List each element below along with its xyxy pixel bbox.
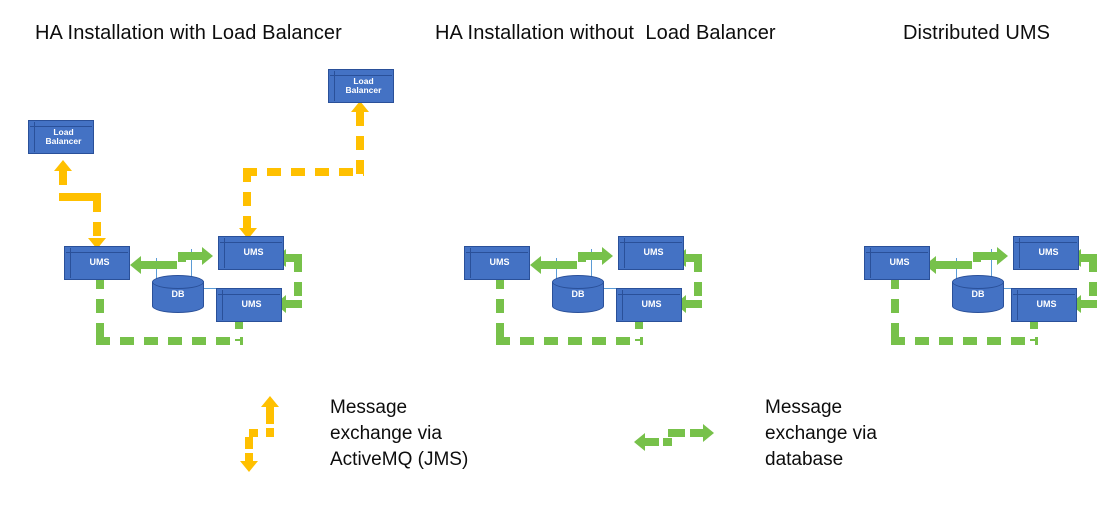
jms-segment-v2: [93, 198, 101, 240]
db-segment-v3: [294, 258, 302, 304]
db-segment-step: [578, 252, 586, 262]
db-segment-h5: [958, 261, 976, 269]
arrowhead-left-icon: [530, 256, 541, 274]
load-balancer-label: LoadBalancer: [35, 121, 92, 153]
ums-node-3-top-right[interactable]: UMS: [1013, 236, 1079, 270]
ums-node-3-bottom-right[interactable]: UMS: [1011, 288, 1077, 322]
db-segment-v1: [891, 275, 899, 337]
db-segment-step: [178, 252, 186, 262]
ums-label: UMS: [1020, 237, 1077, 269]
arrowhead-left-icon: [130, 256, 141, 274]
legend-jms-v3: [245, 437, 253, 449]
database-node-2[interactable]: DB: [552, 275, 604, 313]
load-balancer-label: LoadBalancer: [335, 70, 392, 102]
db-segment-v1: [496, 275, 504, 337]
legend-jms-v1: [266, 407, 274, 424]
db-segment-h5: [563, 261, 581, 269]
legend-db-h1: [645, 438, 659, 446]
arrowhead-right-icon: [602, 247, 613, 265]
db-segment-h3: [1081, 300, 1097, 308]
db-segment-h4: [541, 261, 563, 269]
database-label: DB: [152, 275, 204, 313]
ums-label: UMS: [1018, 289, 1075, 321]
db-segment-h1: [496, 337, 643, 345]
ums-label: UMS: [471, 247, 528, 279]
legend-db-h2: [663, 438, 672, 446]
ums-label: UMS: [71, 247, 128, 279]
ums-label: UMS: [225, 237, 282, 269]
legend-jms-h1: [249, 429, 258, 437]
db-segment-step: [973, 252, 981, 262]
diagram-title-ha-without-lb: HA Installation without Load Balancer: [435, 22, 776, 45]
legend-db-h3: [668, 429, 685, 437]
db-segment-h3: [686, 300, 702, 308]
db-segment-v3: [1089, 258, 1097, 304]
legend-jms-v2: [266, 428, 274, 437]
ums-node-2-bottom-right[interactable]: UMS: [616, 288, 682, 322]
database-node-1[interactable]: DB: [152, 275, 204, 313]
db-segment-h5: [163, 261, 181, 269]
ums-node-2-top-right[interactable]: UMS: [618, 236, 684, 270]
legend-db-h4: [690, 429, 703, 437]
ums-label: UMS: [871, 247, 928, 279]
arrowhead-left-icon: [634, 433, 645, 451]
ums-node-3-left[interactable]: UMS: [864, 246, 930, 280]
arrowhead-right-icon: [997, 247, 1008, 265]
ums-label: UMS: [223, 289, 280, 321]
ums-label: UMS: [623, 289, 680, 321]
db-segment-h4: [141, 261, 163, 269]
jms-segment-v3: [356, 112, 364, 174]
db-segment-h2: [686, 254, 702, 262]
db-segment-h3: [286, 300, 302, 308]
ums-node-1-bottom-right[interactable]: UMS: [216, 288, 282, 322]
jms-segment-h2: [243, 168, 364, 176]
database-node-3[interactable]: DB: [952, 275, 1004, 313]
ums-label: UMS: [625, 237, 682, 269]
db-segment-h2: [1081, 254, 1097, 262]
db-segment-v1: [96, 275, 104, 337]
arrowhead-right-icon: [202, 247, 213, 265]
diagram-title-ha-with-lb: HA Installation with Load Balancer: [35, 22, 342, 45]
database-label: DB: [552, 275, 604, 313]
arrowhead-up-icon: [261, 396, 279, 407]
db-segment-h1: [891, 337, 1038, 345]
ums-node-1-top-right[interactable]: UMS: [218, 236, 284, 270]
db-segment-v3: [694, 258, 702, 304]
legend-label-jms: Message exchange via ActiveMQ (JMS): [330, 395, 530, 474]
jms-segment-v4: [243, 168, 251, 230]
ums-node-1-left[interactable]: UMS: [64, 246, 130, 280]
db-segment-h1: [96, 337, 243, 345]
load-balancer-node-2[interactable]: LoadBalancer: [328, 69, 394, 103]
arrowhead-down-icon: [240, 461, 258, 472]
diagram-title-distributed-ums: Distributed UMS: [903, 22, 1050, 45]
arrowhead-up-icon: [54, 160, 72, 171]
diagram-canvas: HA Installation with Load Balancer HA In…: [0, 0, 1114, 510]
load-balancer-node-1[interactable]: LoadBalancer: [28, 120, 94, 154]
legend-label-database: Message exchange via database: [765, 395, 965, 474]
ums-node-2-left[interactable]: UMS: [464, 246, 530, 280]
arrowhead-right-icon: [703, 424, 714, 442]
db-segment-h2: [286, 254, 302, 262]
database-label: DB: [952, 275, 1004, 313]
db-segment-h4: [936, 261, 958, 269]
